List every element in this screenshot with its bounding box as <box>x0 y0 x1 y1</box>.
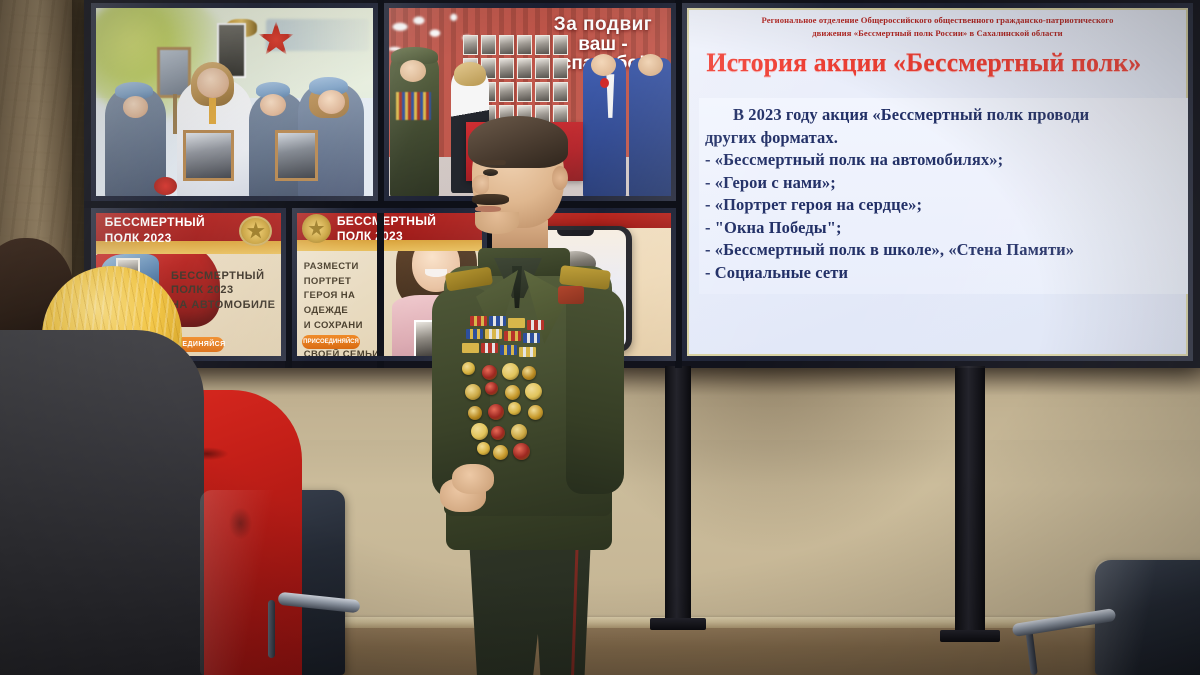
videowall-support-post-right <box>955 366 985 634</box>
videowall-support-post-left <box>665 366 691 621</box>
screen-panel-cadets[interactable] <box>91 3 378 201</box>
officer-medal <box>471 423 488 440</box>
officer-ribbon-bar <box>527 320 544 330</box>
photo-general-medals <box>396 92 431 120</box>
officer-medal <box>477 442 490 455</box>
officer-medal <box>502 363 519 380</box>
officer-medal <box>482 365 497 380</box>
screen-panel-slide[interactable]: Региональное отделение Общероссийского о… <box>682 3 1193 361</box>
photo-held-portrait-center <box>183 130 235 181</box>
speaker-military-officer <box>420 120 630 675</box>
officer-medal <box>508 402 521 415</box>
photo-face-2 <box>197 68 229 98</box>
officer-medal <box>505 385 520 400</box>
officer-chin <box>475 212 519 234</box>
officer-ear <box>552 166 568 190</box>
officer-moustache <box>472 194 509 205</box>
officer-ribbon-bar <box>500 345 517 355</box>
officer-medal <box>462 362 475 375</box>
officer-eyebrow <box>480 160 506 165</box>
officer-medal <box>465 384 481 400</box>
officer-medal <box>493 445 508 460</box>
slide-body-line-1: В 2023 году акция «Бессмертный полк пров… <box>705 104 1191 127</box>
presentation-slide: Региональное отделение Общероссийского о… <box>682 3 1193 361</box>
officer-medal <box>528 405 543 420</box>
officer-ribbon-bar <box>519 347 536 357</box>
photo-face-4 <box>318 90 345 114</box>
chair-center-arm-post <box>268 600 275 658</box>
officer-ribbon-bar <box>489 316 506 326</box>
officer-nose <box>472 175 489 194</box>
presentation-room-scene: За подвиг ваш - спасибо! <box>0 0 1200 675</box>
slide-body-line-7: - «Бессмертный полк в школе», «Стена Пам… <box>705 239 1191 262</box>
slide-header: Региональное отделение Общероссийского о… <box>704 14 1171 41</box>
officer-ribbon-bar <box>466 329 483 339</box>
slide-body-line-8: - Социальные сети <box>705 262 1191 285</box>
officer-ribbon-bar <box>485 329 502 339</box>
officer-medal <box>513 443 530 460</box>
slide-body-line-2: других форматах. <box>705 127 1191 150</box>
officer-ribbon-bar <box>462 343 479 353</box>
photo-face-3 <box>260 94 286 116</box>
officer-lip <box>475 206 501 212</box>
slide-body-line-4: - «Герои с нами»; <box>705 172 1191 195</box>
slide-title: История акции «Бессмертный полк» <box>706 48 1193 78</box>
slide-header-line-2: движения «Бессмертный полк России» в Сах… <box>704 27 1171 40</box>
officer-ribbon-bar <box>481 343 498 353</box>
officer-medal <box>522 366 536 380</box>
slide-body: В 2023 году акция «Бессмертный полк пров… <box>699 98 1191 294</box>
photo-woman-scarf <box>209 98 216 124</box>
officer-ribbon-bar <box>470 316 487 326</box>
photo-cadets-with-portraits <box>91 3 378 201</box>
videowall-seam-vertical-2 <box>675 0 682 368</box>
officer-medal <box>525 383 542 400</box>
slide-canvas: Региональное отделение Общероссийского о… <box>687 8 1188 356</box>
officer-shoulder-patch <box>558 286 584 304</box>
officer-ribbon-bar <box>504 331 521 341</box>
photo-red-boutonniere <box>600 78 609 88</box>
officer-hand-right <box>452 464 494 494</box>
officer-medal <box>488 404 504 420</box>
audience-member-dark-torso <box>0 330 204 675</box>
slide-body-line-6: - "Окна Победы"; <box>705 217 1191 240</box>
photo-held-portrait-right <box>275 130 318 181</box>
officer-medal <box>511 424 527 440</box>
officer-medal <box>491 426 505 440</box>
poster-header-line-1: БЕССМЕРТНЫЙ <box>105 215 205 229</box>
slide-header-line-1: Региональное отделение Общероссийского о… <box>704 14 1171 27</box>
officer-ribbon-bar <box>523 333 540 343</box>
slide-body-line-5: - «Портрет героя на сердце»; <box>705 194 1191 217</box>
slide-body-line-3: - «Бессмертный полк на автомобилях»; <box>705 149 1191 172</box>
photo-carnations <box>154 177 177 195</box>
slogan-line-1: За подвиг <box>536 15 670 35</box>
photo-man-blue-2-face <box>638 54 663 76</box>
officer-ribbon-bar <box>508 318 525 328</box>
videowall-post-base-left <box>650 618 706 630</box>
videowall-post-base-right <box>940 630 1000 642</box>
officer-medal <box>485 382 498 395</box>
photo-face-1 <box>123 96 149 118</box>
officer-medal <box>468 406 482 420</box>
officer-medal-cluster <box>460 316 580 474</box>
photo-man-blue-2 <box>629 58 673 197</box>
photo-woman-hair-b <box>454 62 486 86</box>
